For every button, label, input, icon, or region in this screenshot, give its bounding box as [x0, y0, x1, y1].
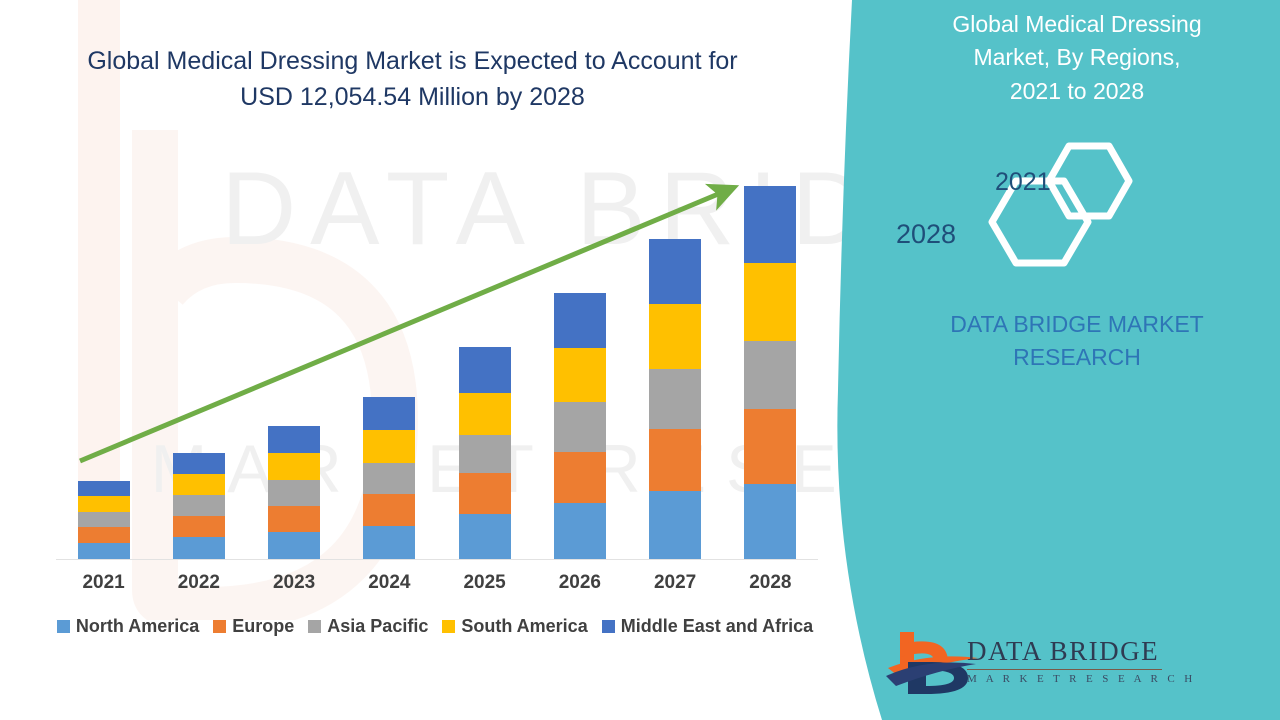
panel-title-line-2: Market, By Regions, [902, 41, 1252, 74]
bar-group [56, 160, 818, 559]
bar-segment [459, 347, 511, 393]
bar-segment [268, 506, 320, 532]
bar-stack [649, 239, 701, 559]
legend-swatch-icon [57, 620, 70, 633]
bar-segment [744, 263, 796, 341]
bar-stack [173, 453, 225, 559]
bar-column [628, 160, 723, 559]
x-axis-line [56, 559, 818, 560]
x-axis-tick-label: 2026 [532, 572, 627, 594]
legend-item[interactable]: North America [57, 616, 199, 637]
legend-swatch-icon [442, 620, 455, 633]
chart-legend: North AmericaEuropeAsia PacificSouth Ame… [40, 616, 830, 637]
bar-segment [173, 453, 225, 474]
stacked-bar-chart: 20212022202320242025202620272028 North A… [0, 0, 840, 720]
bar-segment [459, 393, 511, 435]
bar-stack [554, 293, 606, 559]
panel-title: Global Medical Dressing Market, By Regio… [902, 8, 1252, 108]
bar-stack [363, 397, 415, 559]
bar-segment [459, 473, 511, 514]
bar-stack [78, 481, 130, 559]
bar-segment [363, 397, 415, 430]
legend-item[interactable]: South America [442, 616, 587, 637]
bar-segment [649, 491, 701, 559]
bar-segment [459, 514, 511, 559]
bar-segment [268, 426, 320, 453]
x-axis-labels: 20212022202320242025202620272028 [56, 572, 818, 594]
bar-segment [363, 430, 415, 463]
bar-segment [363, 526, 415, 559]
legend-swatch-icon [308, 620, 321, 633]
infographic-slide: DATA BRIDGE MARKET RESEARCH Global Medic… [0, 0, 1280, 720]
bar-segment [268, 532, 320, 559]
bar-column [342, 160, 437, 559]
bar-segment [173, 495, 225, 516]
bar-segment [744, 341, 796, 409]
bar-column [56, 160, 151, 559]
bar-segment [268, 453, 320, 480]
legend-label: Asia Pacific [327, 616, 428, 637]
hexagon-2021-label: 2021 [995, 168, 1051, 197]
legend-swatch-icon [602, 620, 615, 633]
logo-main-text: DATA BRIDGE [967, 636, 1196, 667]
bar-segment [744, 484, 796, 559]
brand-line-1: DATA BRIDGE MARKET [892, 308, 1262, 341]
brand-line-2: RESEARCH [892, 341, 1262, 374]
bar-segment [744, 186, 796, 263]
x-axis-tick-label: 2028 [723, 572, 818, 594]
hexagon-pair [972, 140, 1212, 295]
legend-label: North America [76, 616, 199, 637]
x-axis-tick-label: 2022 [151, 572, 246, 594]
x-axis-tick-label: 2021 [56, 572, 151, 594]
x-axis-tick-label: 2025 [437, 572, 532, 594]
bar-segment [363, 494, 415, 526]
legend-label: South America [461, 616, 587, 637]
legend-item[interactable]: Middle East and Africa [602, 616, 813, 637]
bar-segment [78, 496, 130, 512]
logo-divider [967, 669, 1162, 670]
bar-segment [173, 474, 225, 495]
bar-segment [554, 402, 606, 452]
bar-segment [78, 543, 130, 559]
bar-segment [268, 480, 320, 506]
bar-column [723, 160, 818, 559]
x-axis-tick-label: 2024 [342, 572, 437, 594]
x-axis-tick-label: 2027 [628, 572, 723, 594]
bar-column [151, 160, 246, 559]
legend-label: Middle East and Africa [621, 616, 813, 637]
bar-segment [554, 452, 606, 503]
bar-segment [649, 429, 701, 491]
bar-stack [459, 347, 511, 559]
bar-segment [173, 537, 225, 559]
bar-segment [78, 527, 130, 543]
bar-segment [78, 512, 130, 527]
bar-segment [744, 409, 796, 484]
legend-label: Europe [232, 616, 294, 637]
bar-segment [649, 304, 701, 369]
panel-title-line-1: Global Medical Dressing [902, 8, 1252, 41]
legend-swatch-icon [213, 620, 226, 633]
panel-title-line-3: 2021 to 2028 [902, 75, 1252, 108]
bar-segment [649, 239, 701, 304]
brand-name: DATA BRIDGE MARKET RESEARCH [892, 308, 1262, 375]
legend-item[interactable]: Asia Pacific [308, 616, 428, 637]
bar-segment [459, 435, 511, 473]
bar-column [247, 160, 342, 559]
bar-segment [363, 463, 415, 494]
bar-segment [554, 293, 606, 348]
bar-stack [268, 426, 320, 559]
bar-stack [744, 186, 796, 559]
legend-item[interactable]: Europe [213, 616, 294, 637]
bar-segment [78, 481, 130, 496]
hexagon-2028-label: 2028 [896, 219, 956, 250]
bar-column [437, 160, 532, 559]
panel-content: Global Medical Dressing Market, By Regio… [872, 0, 1280, 720]
bar-segment [173, 516, 225, 537]
bar-segment [554, 503, 606, 559]
x-axis-tick-label: 2023 [247, 572, 342, 594]
bar-segment [554, 348, 606, 402]
bar-column [532, 160, 627, 559]
data-bridge-logo-text: DATA BRIDGE M A R K E T R E S E A R C H [967, 636, 1196, 685]
bar-segment [649, 369, 701, 429]
logo-sub-text: M A R K E T R E S E A R C H [967, 673, 1196, 685]
